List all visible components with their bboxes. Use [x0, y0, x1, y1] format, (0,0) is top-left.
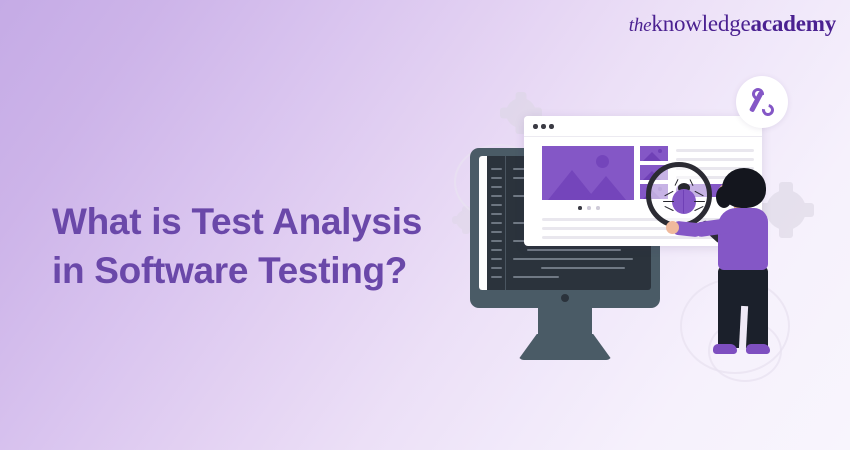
- person-illustration: [698, 168, 794, 358]
- monitor-power-dot: [561, 294, 569, 302]
- speech-bubble: [736, 76, 788, 128]
- text-line-placeholder: [676, 158, 754, 161]
- carousel-dot-active[interactable]: [578, 206, 582, 210]
- text-line-placeholder: [676, 149, 754, 152]
- editor-gutter: [479, 156, 487, 290]
- logo-academy: academy: [751, 11, 836, 36]
- wrench-icon: [749, 88, 775, 116]
- image-placeholder-icon: [542, 146, 634, 200]
- person-shoe-left: [713, 344, 737, 354]
- banner: theknowledgeacademy What is Test Analysi…: [0, 0, 850, 450]
- editor-ruler: [505, 156, 506, 290]
- page-title-line-1: What is Test Analysis: [52, 197, 472, 246]
- window-close-dot: [533, 124, 538, 129]
- page-title-line-2: in Software Testing?: [52, 246, 472, 295]
- bug-icon: [671, 183, 697, 215]
- window-maximize-dot: [549, 124, 554, 129]
- hero-illustration: [440, 70, 840, 380]
- monitor-stand-base: [518, 334, 612, 360]
- site-logo[interactable]: theknowledgeacademy: [629, 12, 836, 35]
- carousel-dot[interactable]: [587, 206, 591, 210]
- logo-the: the: [629, 15, 652, 36]
- thumbnail-image-icon: [640, 146, 668, 161]
- person-hair-fringe: [716, 186, 732, 208]
- person-shoe-right: [746, 344, 770, 354]
- browser-title-bar: [524, 116, 762, 137]
- logo-knowledge: knowledge: [651, 11, 750, 36]
- person-hand: [666, 221, 679, 234]
- carousel-dot[interactable]: [596, 206, 600, 210]
- page-title: What is Test Analysis in Software Testin…: [52, 197, 472, 295]
- window-minimize-dot: [541, 124, 546, 129]
